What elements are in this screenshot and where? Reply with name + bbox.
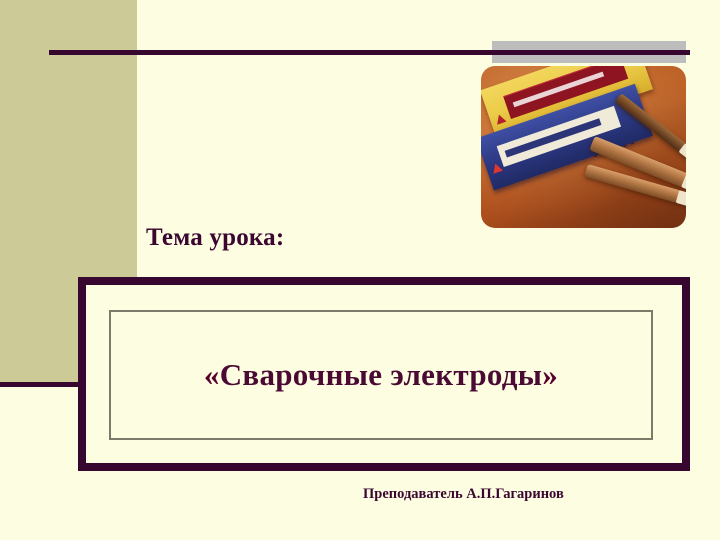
slide-title: «Сварочные электроды» (204, 357, 558, 393)
photo-yellow-box-mark (494, 112, 506, 124)
electrodes-photo (481, 66, 686, 228)
title-open-quote: « (204, 357, 220, 392)
title-close-quote: » (542, 357, 558, 392)
photo-canvas (481, 66, 686, 228)
left-accent-rule (0, 382, 78, 387)
presenter-credit: Преподаватель А.П.Гагаринов (363, 486, 564, 503)
photo-blue-box-mark (491, 162, 503, 174)
title-frame-inner: «Сварочные электроды» (109, 310, 653, 440)
topic-label: Тема урока: (146, 224, 284, 252)
title-frame-outer: «Сварочные электроды» (78, 277, 690, 471)
top-horizontal-rule (49, 50, 690, 55)
title-core-text: Сварочные электроды (220, 357, 543, 392)
presentation-slide: Тема урока: «Сварочные электроды» Препод… (0, 0, 720, 540)
